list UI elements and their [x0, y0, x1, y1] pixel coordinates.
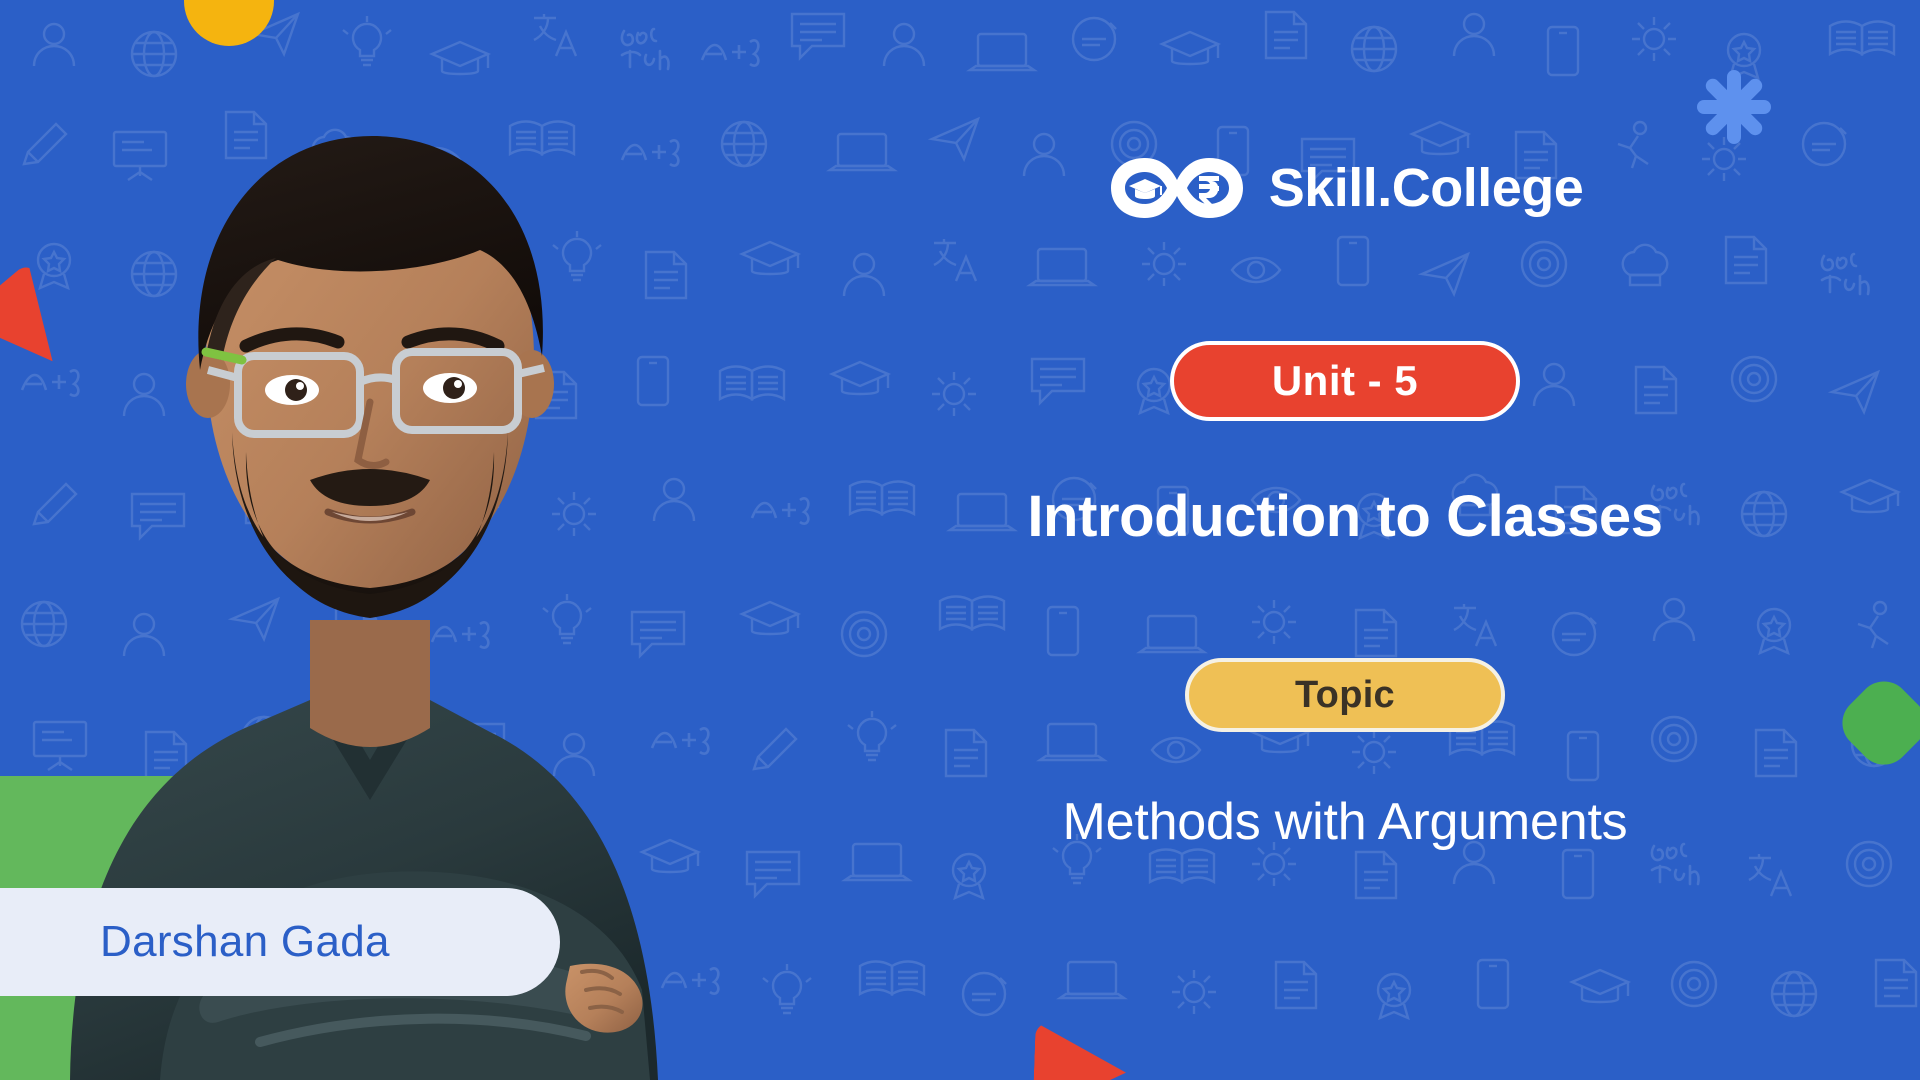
slide-canvas: Darshan Gada [0, 0, 1920, 1080]
presenter-name: Darshan Gada [100, 917, 390, 967]
unit-badge-label: Unit - 5 [1272, 357, 1418, 405]
decoration-circle-yellow [184, 0, 274, 46]
unit-title: Introduction to Classes [1027, 483, 1662, 550]
slide-content-column: Skill.College Unit - 5 Introduction to C… [770, 0, 1920, 1080]
topic-badge-label: Topic [1295, 674, 1395, 717]
brand-name: Skill.College [1269, 157, 1584, 219]
topic-badge: Topic [1185, 658, 1505, 732]
unit-badge: Unit - 5 [1170, 341, 1520, 421]
topic-title: Methods with Arguments [1063, 792, 1628, 852]
brand-lockup: Skill.College [1107, 150, 1584, 226]
presenter-name-banner: Darshan Gada [0, 888, 560, 996]
infinity-graduation-rupee-icon [1107, 150, 1247, 226]
